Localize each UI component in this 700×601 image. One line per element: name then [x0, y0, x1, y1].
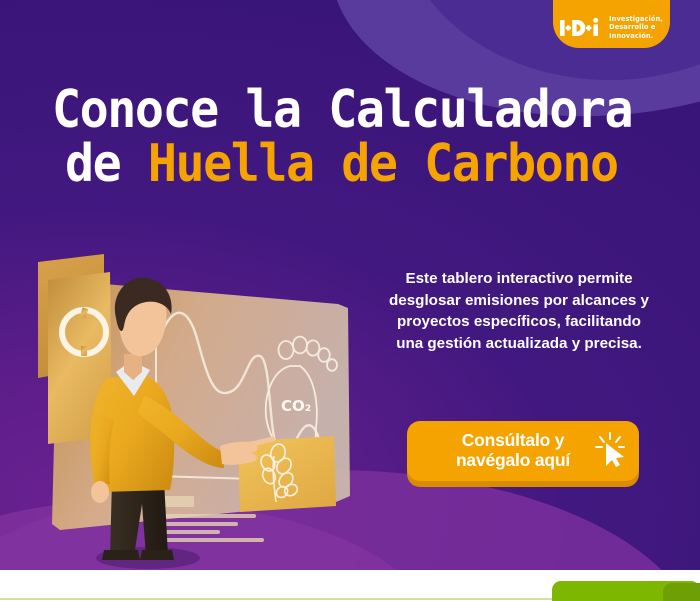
cta-label-line1: Consúltalo y — [456, 431, 570, 451]
brand-logo-inner: Investigación, Desarrollo e Innovación. — [560, 15, 663, 40]
presenter-dashboard-illustration: CO₂ — [38, 246, 383, 570]
footer-green-tab-accent[interactable] — [663, 583, 700, 601]
presenter-shoe-left — [102, 550, 140, 560]
headline-line-1: Conoce la Calculadora — [52, 84, 629, 138]
co2-label: CO₂ — [281, 397, 311, 415]
page-title: Conoce la Calculadora de Huella de Carbo… — [52, 84, 672, 191]
idi-logo-mark-icon — [560, 17, 604, 37]
footer-rule — [0, 598, 552, 600]
brand-logo-tagline-line2: Desarrollo e — [609, 23, 663, 31]
cta-button[interactable]: Consúltalo y navégalo aquí — [407, 421, 639, 487]
promo-banner: Investigación, Desarrollo e Innovación. … — [0, 0, 700, 570]
click-cursor-icon — [593, 432, 627, 468]
brand-logo-tagline-line1: Investigación, — [609, 15, 663, 23]
headline-line-2: de Huella de Carbono — [52, 138, 629, 192]
cta-label-line2: navégalo aquí — [456, 451, 570, 471]
headline-prefix: de — [65, 134, 148, 194]
cta-button-label: Consúltalo y navégalo aquí — [450, 431, 596, 471]
brand-logo-badge[interactable]: Investigación, Desarrollo e Innovación. — [553, 0, 670, 48]
headline-highlight: Huella de Carbono — [148, 134, 618, 194]
presenter-hand-left — [91, 481, 109, 503]
brand-logo-tagline-line3: Innovación. — [609, 32, 663, 40]
brand-logo-tagline: Investigación, Desarrollo e Innovación. — [609, 15, 663, 40]
presenter-shoe-right — [140, 550, 174, 560]
description-text: Este tablero interactivo permite desglos… — [383, 268, 655, 354]
